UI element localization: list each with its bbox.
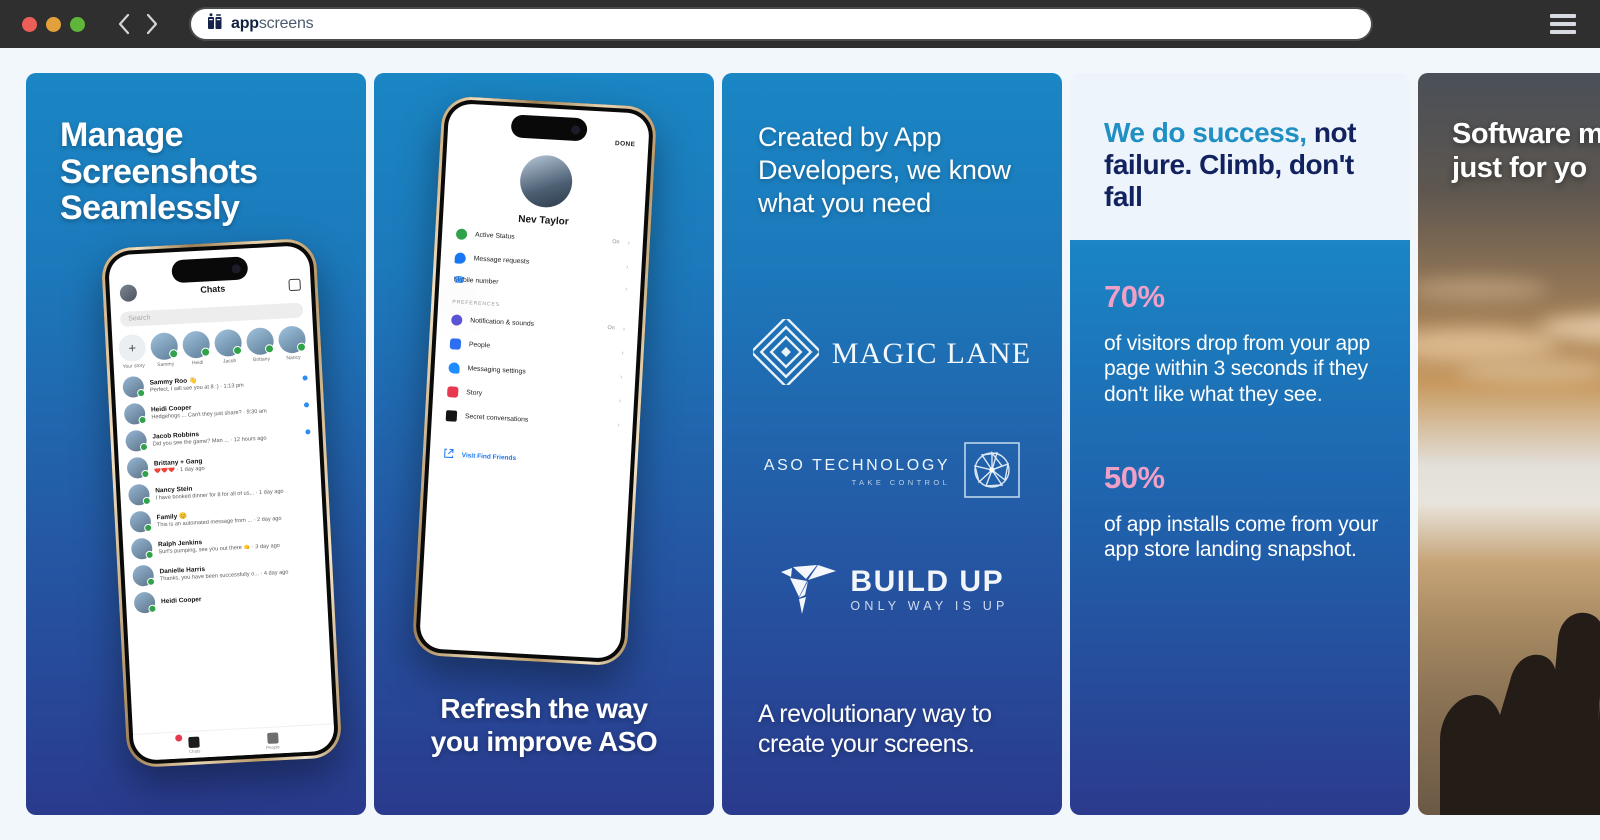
address-bar-text: appscreens bbox=[231, 15, 313, 33]
phone-notch bbox=[171, 256, 248, 283]
unread-dot bbox=[304, 402, 309, 407]
aso-wordmark: ASO TECHNOLOGY bbox=[764, 457, 950, 475]
chat-list-item[interactable]: Heidi CooperHedgehogs ... Can't they jus… bbox=[124, 394, 310, 425]
story-item[interactable]: Heidi bbox=[182, 330, 212, 366]
settings-row-value: On bbox=[612, 239, 620, 245]
compose-icon[interactable] bbox=[288, 278, 301, 291]
preferences-rows[interactable]: Notification & soundsOn›People›Messaging… bbox=[431, 306, 638, 437]
settings-row-label: Notification & sounds bbox=[470, 317, 600, 331]
avatar bbox=[127, 457, 149, 479]
unread-dot bbox=[302, 375, 307, 380]
phone-mockup-profile: DONE Nev Taylor Active StatusOn›Message … bbox=[412, 95, 658, 666]
stat-percentage: 70% bbox=[1104, 279, 1380, 315]
card-title-accent: We do success, bbox=[1104, 117, 1307, 148]
chevron-right-icon: › bbox=[621, 349, 624, 356]
unread-dot bbox=[305, 429, 310, 434]
card-title: Software m just for yo bbox=[1452, 117, 1600, 185]
story-avatar[interactable] bbox=[214, 329, 242, 357]
settings-row-label: People bbox=[469, 341, 606, 356]
card-title: Manage Screenshots Seamlessly bbox=[26, 73, 366, 227]
story-avatar[interactable] bbox=[182, 330, 210, 358]
brand-name-bold: app bbox=[231, 15, 259, 32]
chat-list[interactable]: Sammy Roo 👋Perfect, I will see you at 8 … bbox=[114, 360, 327, 614]
external-link-icon bbox=[443, 445, 454, 464]
avatar[interactable] bbox=[119, 284, 137, 302]
purple-icon bbox=[451, 314, 463, 326]
navigation-controls bbox=[117, 13, 159, 35]
card-refresh-aso[interactable]: DONE Nev Taylor Active StatusOn›Message … bbox=[374, 73, 714, 815]
chat-list-item[interactable]: Sammy Roo 👋Perfect, I will see you at 8 … bbox=[122, 367, 308, 398]
people-icon bbox=[450, 338, 462, 350]
settings-row-label: Story bbox=[466, 389, 603, 404]
msg-icon bbox=[448, 362, 460, 374]
settings-row-value: On bbox=[607, 325, 615, 331]
story-avatar[interactable]: + bbox=[118, 334, 146, 362]
logo-aso-technology: ASO TECHNOLOGY TAKE CONTROL bbox=[722, 413, 1062, 531]
avatar bbox=[132, 565, 154, 587]
card-manage-screenshots[interactable]: Manage Screenshots Seamlessly Chats Sear… bbox=[26, 73, 366, 815]
chevron-right-icon: › bbox=[617, 421, 620, 428]
card-we-do-success[interactable]: We do success, not failure. Climb, don't… bbox=[1070, 73, 1410, 815]
chat-list-item[interactable]: Heidi Cooper bbox=[134, 583, 320, 614]
chevron-right-icon: › bbox=[623, 325, 626, 332]
phone-notch bbox=[510, 114, 587, 141]
minimize-window-button[interactable] bbox=[46, 17, 61, 32]
avatar bbox=[128, 484, 150, 506]
chevron-right-icon: › bbox=[620, 373, 623, 380]
stat-block-50: 50% of app installs come from your app s… bbox=[1070, 460, 1410, 563]
stat-percentage: 50% bbox=[1104, 460, 1380, 496]
search-placeholder: Search bbox=[128, 314, 151, 322]
tab-people[interactable]: People bbox=[265, 732, 280, 750]
logo-magic-lane: MAGIC LANE bbox=[722, 295, 1062, 413]
chat-list-item[interactable]: Nancy SteinI have booked dinner for 8 fo… bbox=[128, 475, 314, 506]
avatar bbox=[122, 376, 144, 398]
aperture-icon bbox=[964, 442, 1020, 503]
card-title: Created by App Developers, we know what … bbox=[722, 73, 1062, 220]
avatar bbox=[124, 403, 146, 425]
chat-header-title: Chats bbox=[137, 280, 289, 298]
hand-silhouette bbox=[1422, 491, 1600, 815]
hamburger-menu-icon[interactable] bbox=[1550, 14, 1576, 34]
address-bar[interactable]: appscreens bbox=[191, 9, 1371, 39]
stat-block-70: 70% of visitors drop from your app page … bbox=[1070, 279, 1410, 408]
build-up-tagline: ONLY WAY IS UP bbox=[850, 600, 1008, 613]
chat-list-item[interactable]: Brittany + Gang❤️❤️❤️ · 1 day ago bbox=[127, 448, 313, 479]
settings-row-label: Active Status bbox=[475, 231, 605, 245]
chat-name: Heidi Cooper bbox=[161, 590, 319, 605]
origami-bird-icon bbox=[775, 559, 837, 622]
magic-lane-diamond-icon bbox=[753, 319, 819, 390]
profile-avatar bbox=[518, 154, 573, 209]
card-bottom-title: Refresh the way you improve ASO bbox=[374, 692, 714, 759]
story-item[interactable]: Brittany bbox=[246, 327, 276, 363]
avatar bbox=[131, 538, 153, 560]
maximize-window-button[interactable] bbox=[70, 17, 85, 32]
story-item[interactable]: +Your story bbox=[118, 334, 148, 370]
story-avatar[interactable] bbox=[246, 327, 274, 355]
chevron-right-icon: › bbox=[627, 239, 630, 246]
lock-icon bbox=[446, 410, 458, 422]
phone-mockup-chats: Chats Search +Your storySammyHeidiJacobB… bbox=[101, 238, 343, 769]
chat-list-item[interactable]: Family 😊This is an automated message fro… bbox=[129, 502, 315, 533]
magic-lane-wordmark: MAGIC LANE bbox=[832, 337, 1032, 371]
settings-row-label: Mobile number bbox=[453, 276, 609, 292]
appscreens-logo-icon bbox=[207, 13, 224, 35]
card-bottom-title: A revolutionary way to create your scree… bbox=[722, 699, 1062, 759]
close-window-button[interactable] bbox=[22, 17, 37, 32]
settings-row-label: Secret conversations bbox=[465, 413, 602, 428]
settings-rows[interactable]: Active StatusOn›Message requests›☎Mobile… bbox=[439, 221, 643, 300]
settings-row-label: Messaging settings bbox=[467, 365, 604, 380]
chevron-right-icon: › bbox=[625, 285, 628, 292]
phone-icon: ☎ bbox=[453, 274, 465, 286]
stat-description: of app installs come from your app store… bbox=[1104, 512, 1380, 563]
chevron-right-icon: › bbox=[626, 263, 629, 270]
build-up-wordmark: BUILD UP bbox=[850, 567, 1008, 597]
window-controls bbox=[22, 17, 85, 32]
brand-name-light: screens bbox=[259, 15, 314, 32]
card-software-made-for-you[interactable]: Software m just for yo bbox=[1418, 73, 1600, 815]
find-friends-label: Visit Find Friends bbox=[462, 452, 517, 462]
story-avatar[interactable] bbox=[278, 325, 306, 353]
avatar bbox=[125, 430, 147, 452]
stat-description: of visitors drop from your app page with… bbox=[1104, 331, 1380, 408]
chat-list-item[interactable]: Jacob RobbinsDid you see the game? Man .… bbox=[125, 421, 311, 452]
screenshot-carousel[interactable]: Manage Screenshots Seamlessly Chats Sear… bbox=[0, 48, 1600, 840]
story-item[interactable]: Nancy bbox=[278, 325, 308, 361]
story-avatar[interactable] bbox=[150, 332, 178, 360]
green-icon bbox=[456, 228, 468, 240]
tab-chats[interactable]: Chats bbox=[188, 736, 200, 754]
blue-icon bbox=[454, 252, 466, 264]
chat-list-item[interactable]: Ralph JenkinsSurf's pumping, see you out… bbox=[131, 529, 317, 560]
browser-toolbar: appscreens bbox=[0, 0, 1600, 48]
avatar bbox=[134, 592, 156, 614]
aso-tagline: TAKE CONTROL bbox=[764, 478, 950, 487]
back-arrow-icon[interactable] bbox=[117, 13, 131, 35]
card-title: We do success, not failure. Climb, don't… bbox=[1070, 73, 1410, 213]
chat-list-item[interactable]: Danielle HarrisThanks, you have been suc… bbox=[132, 556, 318, 587]
forward-arrow-icon[interactable] bbox=[145, 13, 159, 35]
story-item[interactable]: Sammy bbox=[150, 332, 180, 368]
logo-build-up: BUILD UP ONLY WAY IS UP bbox=[722, 531, 1062, 649]
card-created-by-app-developers[interactable]: Created by App Developers, we know what … bbox=[722, 73, 1062, 815]
settings-row-label: Message requests bbox=[474, 255, 611, 270]
partner-logos: MAGIC LANE ASO TECHNOLOGY TAKE CONTROL bbox=[722, 295, 1062, 649]
red-icon bbox=[447, 386, 459, 398]
unread-badge bbox=[175, 734, 182, 741]
story-item[interactable]: Jacob bbox=[214, 329, 244, 365]
chevron-right-icon: › bbox=[618, 397, 621, 404]
avatar bbox=[129, 511, 151, 533]
